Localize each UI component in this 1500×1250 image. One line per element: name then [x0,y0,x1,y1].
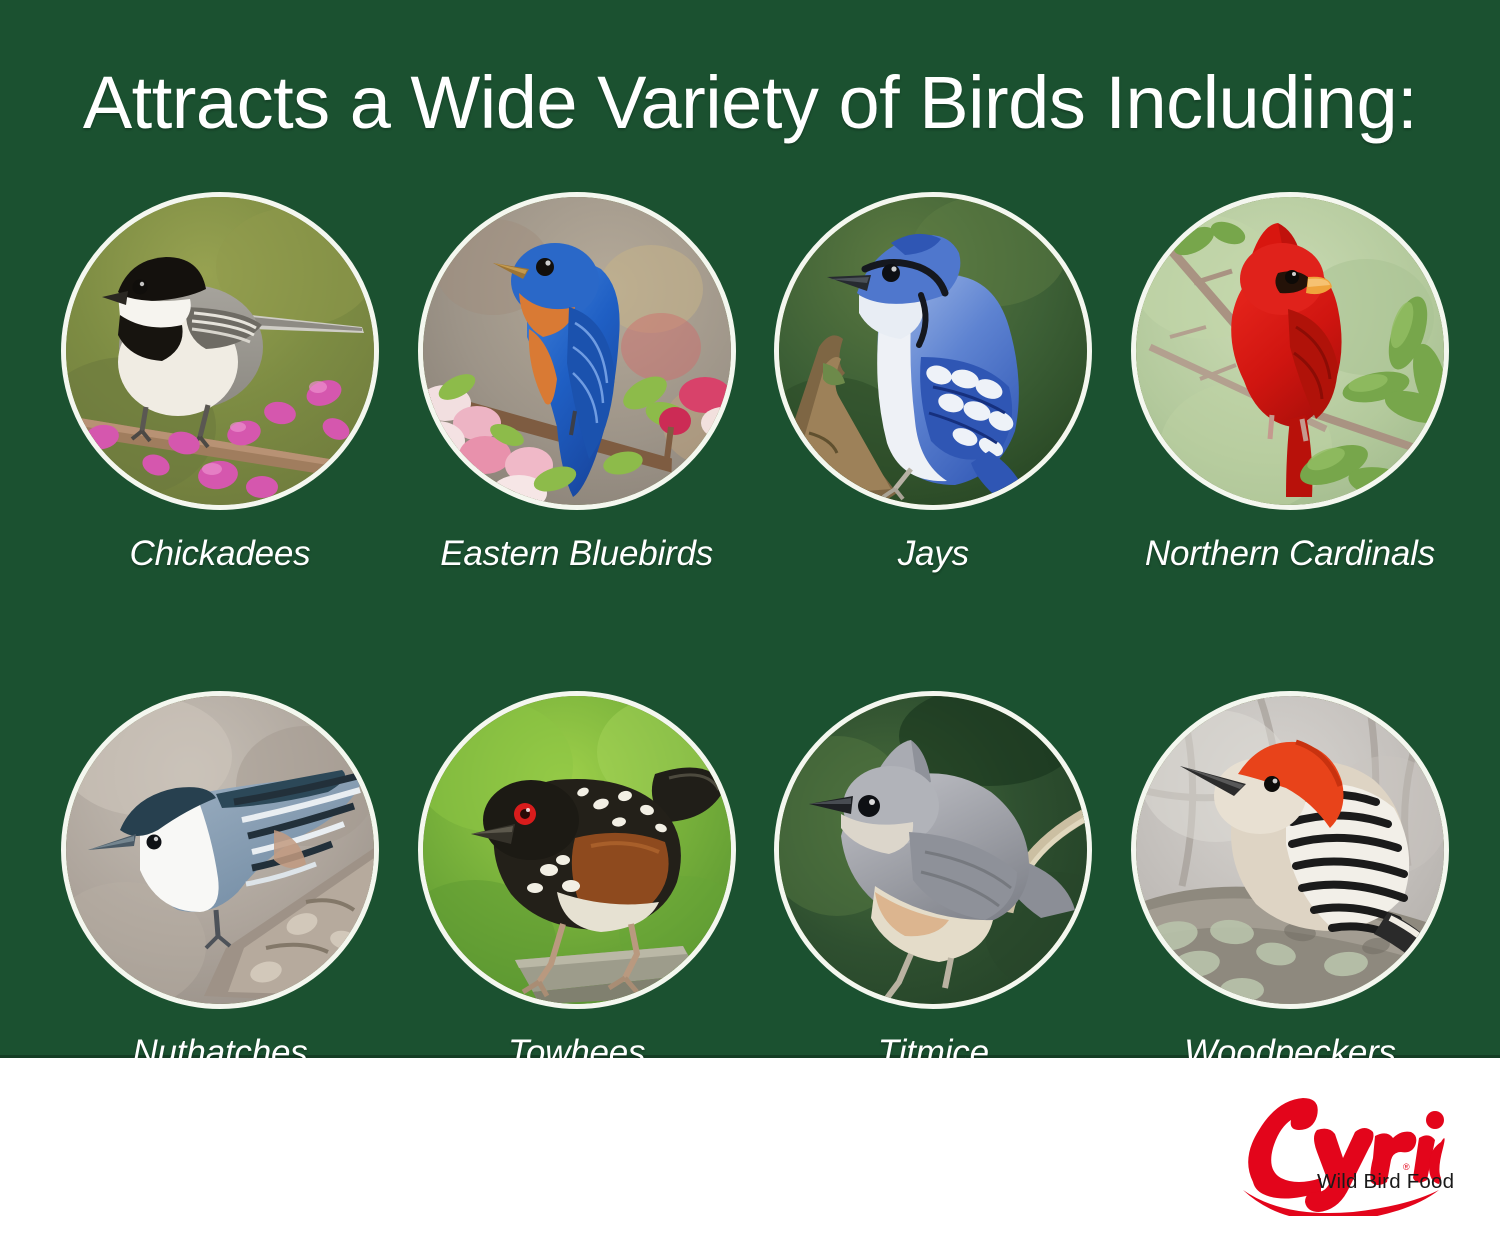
bird-cell-woodpeckers[interactable]: Woodpeckers [1125,691,1455,1073]
page-title: Attracts a Wide Variety of Birds Includi… [0,66,1500,140]
bird-label: Northern Cardinals [1145,534,1435,574]
white-breasted-nuthatch-photo [66,696,374,1004]
red-bellied-woodpecker-photo [1136,696,1444,1004]
logo-footer: ® Wild Bird Food [0,1058,1500,1250]
northern-cardinal-photo [1136,197,1444,505]
bird-cell-eastern-bluebirds[interactable]: Eastern Bluebirds [412,192,742,574]
eastern-bluebird-photo-circle[interactable] [418,192,736,510]
eastern-bluebird-photo [423,197,731,505]
lyric-logo[interactable]: ® Wild Bird Food [1225,1086,1445,1216]
bird-row: Chickadees [55,192,1455,574]
bird-cell-northern-cardinals[interactable]: Northern Cardinals [1125,192,1455,574]
bird-cell-jays[interactable]: Jays [768,192,1098,574]
poster: Attracts a Wide Variety of Birds Includi… [0,0,1500,1250]
chickadee-photo-circle[interactable] [61,192,379,510]
bird-cell-chickadees[interactable]: Chickadees [55,192,385,574]
blue-jay-photo-circle[interactable] [774,192,1092,510]
bird-row: Nuthatches [55,691,1455,1073]
logo-tagline: Wild Bird Food [1317,1170,1454,1194]
tufted-titmouse-photo [779,696,1087,1004]
spotted-towhee-photo [423,696,731,1004]
bird-cell-nuthatches[interactable]: Nuthatches [55,691,385,1073]
bird-cell-towhees[interactable]: Towhees [412,691,742,1073]
bird-cell-titmice[interactable]: Titmice [768,691,1098,1073]
red-bellied-woodpecker-photo-circle[interactable] [1131,691,1449,1009]
blue-jay-photo [779,197,1087,505]
spotted-towhee-photo-circle[interactable] [418,691,736,1009]
tufted-titmouse-photo-circle[interactable] [774,691,1092,1009]
lyric-wordmark-icon: ® [1225,1086,1445,1216]
bird-label: Jays [898,534,969,574]
northern-cardinal-photo-circle[interactable] [1131,192,1449,510]
chickadee-photo [66,197,374,505]
bird-label: Eastern Bluebirds [440,534,713,574]
white-breasted-nuthatch-photo-circle[interactable] [61,691,379,1009]
bird-grid: Chickadees [55,192,1455,1073]
bird-label: Chickadees [130,534,311,574]
